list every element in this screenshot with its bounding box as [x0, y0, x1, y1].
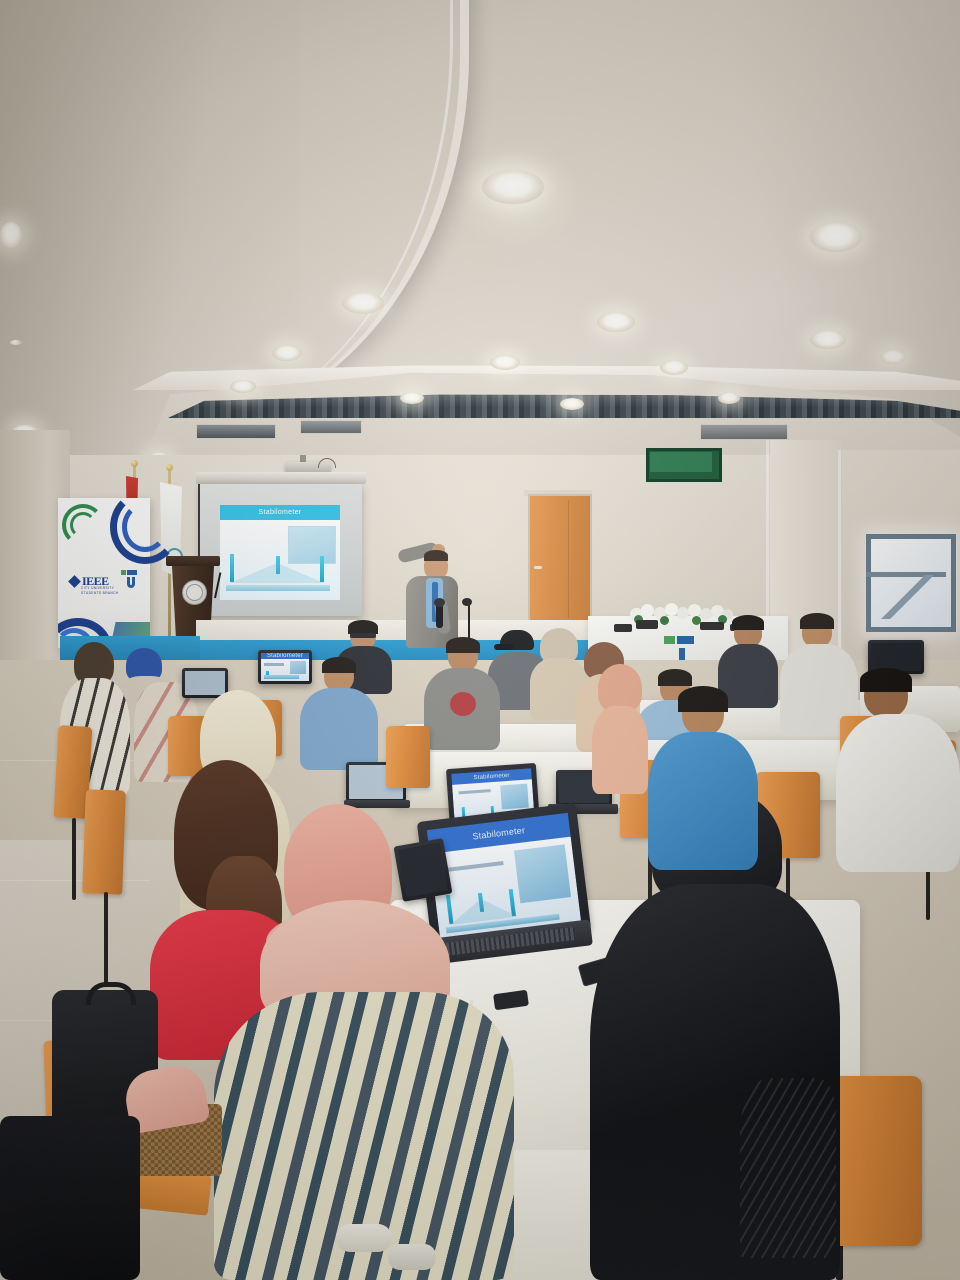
abaya-lace-pattern: [740, 1078, 836, 1258]
laptop-back-1[interactable]: Stabilometer: [258, 650, 312, 684]
downlight: [272, 345, 302, 361]
presenter: [392, 542, 464, 652]
flag-finial-icon: [131, 460, 138, 467]
slide-baseplate: [226, 585, 330, 591]
podium-seal-inner: [186, 584, 203, 601]
hair: [732, 615, 764, 630]
backpack-handle: [86, 982, 136, 1005]
university-logo-icon: [120, 570, 138, 590]
downlight: [810, 330, 846, 349]
microphone-head-icon: [434, 598, 445, 607]
downlight: [560, 398, 584, 410]
window-reflection: [872, 575, 942, 619]
banner-arc-blue: [122, 502, 168, 552]
microphone-stand: [468, 604, 470, 642]
attendee-blue-tee: [648, 690, 758, 870]
chair-leg: [104, 892, 108, 984]
photo-canvas: Stabilometer IEEE CITY UNIVERSITY STUDEN…: [0, 0, 960, 1280]
shoe: [388, 1244, 436, 1270]
wall-picture: [650, 452, 712, 472]
slide-photo-panel: [288, 526, 336, 564]
hair: [446, 637, 480, 653]
ieee-subtitle-line2: STUDENTS BRANCH: [81, 591, 119, 595]
downlight: [490, 355, 520, 370]
shoe: [336, 1224, 392, 1252]
door[interactable]: [528, 494, 592, 628]
downlight: [880, 350, 906, 364]
slide-post-icon: [320, 556, 324, 582]
microphone-head-icon: [462, 598, 472, 606]
chair[interactable]: [82, 789, 126, 894]
bag-floor: [0, 1116, 140, 1280]
door-handle[interactable]: [534, 566, 542, 569]
ieee-diamond-icon: [68, 575, 81, 588]
table-equipment: [636, 620, 658, 629]
downlight: [597, 312, 635, 332]
ieee-banner: IEEE CITY UNIVERSITY STUDENTS BRANCH: [58, 498, 150, 648]
hair: [658, 669, 692, 686]
table-equipment: [614, 624, 632, 632]
hair: [322, 657, 356, 673]
projected-slide: Stabilometer: [220, 505, 340, 600]
presenter-hair: [424, 550, 448, 561]
downlight: [230, 380, 256, 393]
air-vent: [700, 424, 788, 440]
slide-triangle: [230, 563, 324, 583]
screen-case: [196, 472, 366, 484]
downlight: [810, 222, 862, 252]
downlight: [660, 360, 688, 375]
air-vent: [300, 420, 362, 434]
downlight: [0, 222, 22, 248]
hair: [860, 668, 912, 692]
smoke-detector-icon: [10, 340, 22, 345]
hair: [348, 620, 378, 634]
slide-body: [220, 520, 340, 600]
downlight: [400, 392, 424, 404]
air-vent: [196, 424, 276, 439]
podium-top: [166, 556, 220, 566]
attendee-zebra-print: [214, 900, 514, 1280]
attendee-peach-hijab: [592, 664, 648, 794]
door-panel-line: [568, 500, 569, 618]
chair[interactable]: [386, 726, 430, 788]
downlight: [718, 392, 740, 404]
ieee-subtitle-line1: CITY UNIVERSITY: [81, 586, 114, 590]
slide-title: Stabilometer: [220, 505, 340, 520]
banner-arc-green: [70, 512, 96, 538]
downlight: [342, 292, 384, 314]
chair-leg: [72, 818, 76, 900]
attendee-grey-tee: [424, 640, 500, 750]
slide-post-icon: [230, 554, 234, 582]
flag-finial-icon: [166, 464, 173, 471]
shirt-logo: [450, 692, 476, 716]
attendee-white-tee: [836, 672, 960, 872]
glasses-icon: [350, 633, 376, 638]
hair: [800, 613, 834, 629]
hair: [678, 686, 728, 712]
downlight: [482, 170, 544, 204]
